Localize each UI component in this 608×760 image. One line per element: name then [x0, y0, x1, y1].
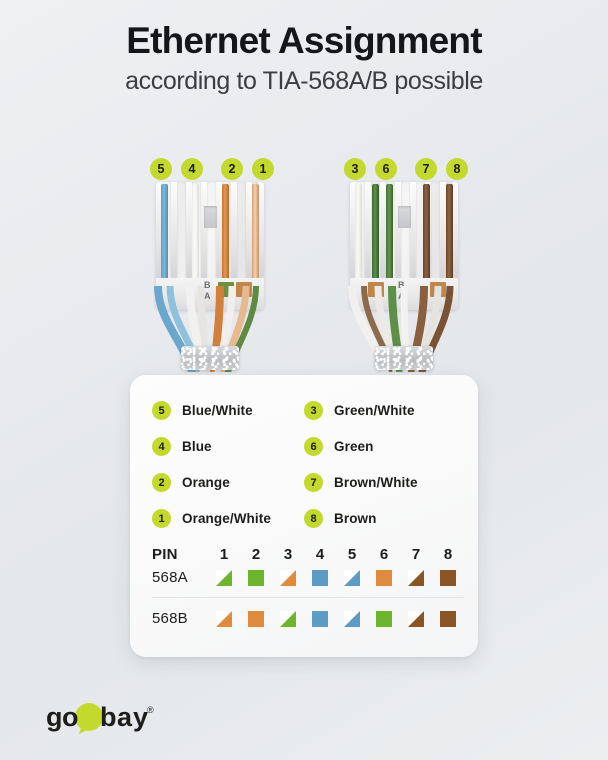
wire-slot-blue-white	[161, 184, 168, 280]
pin-number-6: 6	[368, 546, 400, 563]
pin-number-3: 3	[272, 546, 304, 563]
pin-number-cells: 1 2 3 4 5 6 7 8	[208, 546, 464, 563]
page-title: Ethernet Assignment	[0, 22, 608, 61]
swatch-row-568a	[208, 570, 464, 586]
legend-badge-4: 4	[152, 437, 171, 456]
swatch-cell-568b-pin1	[208, 611, 240, 627]
legend-item-6: 6 Green	[304, 437, 462, 456]
pin-number-text: 3	[284, 546, 292, 563]
standard-label-568a: 568A	[152, 569, 208, 586]
pin-assignment-table: PIN 1 2 3 4 5 6 7 8 568A 568B	[152, 543, 464, 630]
swatch-cell-568a-pin7	[400, 570, 432, 586]
swatch-blue-white-icon	[344, 570, 360, 586]
pin-number-text: 2	[252, 546, 260, 563]
swatch-orange-white-icon	[280, 570, 296, 586]
goobay-wordmark-icon: g o b a y ®	[46, 700, 158, 734]
legend-label-4: Blue	[182, 439, 212, 454]
wire-slot-orange	[222, 184, 229, 280]
legend-label-8: Brown	[334, 511, 377, 526]
swatch-cell-568a-pin1	[208, 570, 240, 586]
swatch-orange-white-icon	[216, 611, 232, 627]
pin-number-4: 4	[304, 546, 336, 563]
jack-comb-right	[350, 182, 458, 280]
wire-slot-green	[386, 184, 393, 280]
pin-number-text: 5	[348, 546, 356, 563]
swatch-cell-568a-pin2	[240, 570, 272, 586]
svg-text:®: ®	[147, 705, 154, 715]
swatch-row-568b	[208, 611, 464, 627]
svg-text:b: b	[100, 702, 117, 732]
swatch-brown-icon	[440, 611, 456, 627]
swatch-cell-568b-pin6	[368, 611, 400, 627]
swatch-orange-icon	[248, 611, 264, 627]
legend-item-8: 8 Brown	[304, 509, 462, 528]
cable-braid-right	[375, 346, 433, 370]
pin-number-text: 7	[412, 546, 420, 563]
swatch-cell-568a-pin5	[336, 570, 368, 586]
legend-badge-8: 8	[304, 509, 323, 528]
standard-label-568b: 568B	[152, 610, 208, 627]
legend-label-7: Brown/White	[334, 475, 418, 490]
swatch-brown-icon	[440, 570, 456, 586]
left-keystone-jack: BA	[148, 160, 272, 370]
swatch-cell-568b-pin4	[304, 611, 336, 627]
legend-label-2: Orange	[182, 475, 230, 490]
legend-item-3: 3 Green/White	[304, 401, 462, 420]
pin-header-row: PIN 1 2 3 4 5 6 7 8	[152, 543, 464, 566]
swatch-cell-568b-pin5	[336, 611, 368, 627]
swatch-cell-568b-pin7	[400, 611, 432, 627]
jack-comb-left	[156, 182, 264, 280]
swatch-cell-568b-pin8	[432, 611, 464, 627]
legend-item-2: 2 Orange	[152, 473, 304, 492]
swatch-blue-white-icon	[344, 611, 360, 627]
header: Ethernet Assignment according to TIA-568…	[0, 22, 608, 94]
table-divider	[152, 597, 464, 598]
info-card: 5 Blue/White 3 Green/White 4 Blue 6 Gree…	[130, 375, 478, 657]
swatch-cell-568b-pin2	[240, 611, 272, 627]
pin-number-text: 4	[316, 546, 324, 563]
swatch-cell-568a-pin3	[272, 570, 304, 586]
wire-slot-white-1	[192, 184, 199, 280]
legend-item-5: 5 Blue/White	[152, 401, 304, 420]
table-row-568b: 568B	[152, 607, 464, 630]
legend-badge-3: 3	[304, 401, 323, 420]
swatch-blue-icon	[312, 570, 328, 586]
legend-label-5: Blue/White	[182, 403, 253, 418]
legend-badge-1: 1	[152, 509, 171, 528]
wire-slot-orange-white	[252, 184, 259, 280]
svg-text:o: o	[62, 702, 79, 732]
legend-item-7: 7 Brown/White	[304, 473, 462, 492]
legend-badge-2: 2	[152, 473, 171, 492]
pin-number-1: 1	[208, 546, 240, 563]
swatch-green-white-icon	[216, 570, 232, 586]
legend-item-4: 4 Blue	[152, 437, 304, 456]
goobay-logo: g o b a y ®	[46, 700, 158, 734]
swatch-cell-568b-pin3	[272, 611, 304, 627]
svg-text:g: g	[46, 702, 63, 732]
swatch-cell-568a-pin6	[368, 570, 400, 586]
pin-header-label: PIN	[152, 546, 208, 563]
cable-braid-left	[181, 346, 239, 370]
legend-badge-7: 7	[304, 473, 323, 492]
wire-color-legend: 5 Blue/White 3 Green/White 4 Blue 6 Gree…	[152, 401, 462, 528]
swatch-green-icon	[248, 570, 264, 586]
swatch-blue-icon	[312, 611, 328, 627]
pin-number-7: 7	[400, 546, 432, 563]
swatch-orange-icon	[376, 570, 392, 586]
swatch-cell-568a-pin8	[432, 570, 464, 586]
legend-badge-6: 6	[304, 437, 323, 456]
legend-label-1: Orange/White	[182, 511, 271, 526]
swatch-cell-568a-pin4	[304, 570, 336, 586]
legend-label-6: Green	[334, 439, 374, 454]
pin-number-8: 8	[432, 546, 464, 563]
pin-number-text: 1	[220, 546, 228, 563]
page-subtitle: according to TIA-568A/B possible	[0, 68, 608, 94]
svg-text:a: a	[117, 702, 133, 732]
legend-label-3: Green/White	[334, 403, 415, 418]
jack-latch-window-right	[398, 206, 411, 228]
table-row-568a: 568A	[152, 566, 464, 589]
pin-number-text: 6	[380, 546, 388, 563]
wire-slot-green-white	[355, 184, 362, 280]
legend-badge-5: 5	[152, 401, 171, 420]
pin-number-text: 8	[444, 546, 452, 563]
wire-slot-green-dark	[372, 184, 379, 280]
wire-slot-brown-white	[423, 184, 430, 280]
svg-text:y: y	[133, 702, 148, 732]
swatch-green-white-icon	[280, 611, 296, 627]
wire-slot-brown	[446, 184, 453, 280]
swatch-brown-white-icon	[408, 570, 424, 586]
pin-number-5: 5	[336, 546, 368, 563]
right-keystone-jack: BA	[342, 160, 466, 370]
swatch-brown-white-icon	[408, 611, 424, 627]
poster-canvas: Ethernet Assignment according to TIA-568…	[0, 0, 608, 760]
pin-number-2: 2	[240, 546, 272, 563]
legend-item-1: 1 Orange/White	[152, 509, 304, 528]
jack-latch-window-left	[204, 206, 217, 228]
swatch-green-icon	[376, 611, 392, 627]
